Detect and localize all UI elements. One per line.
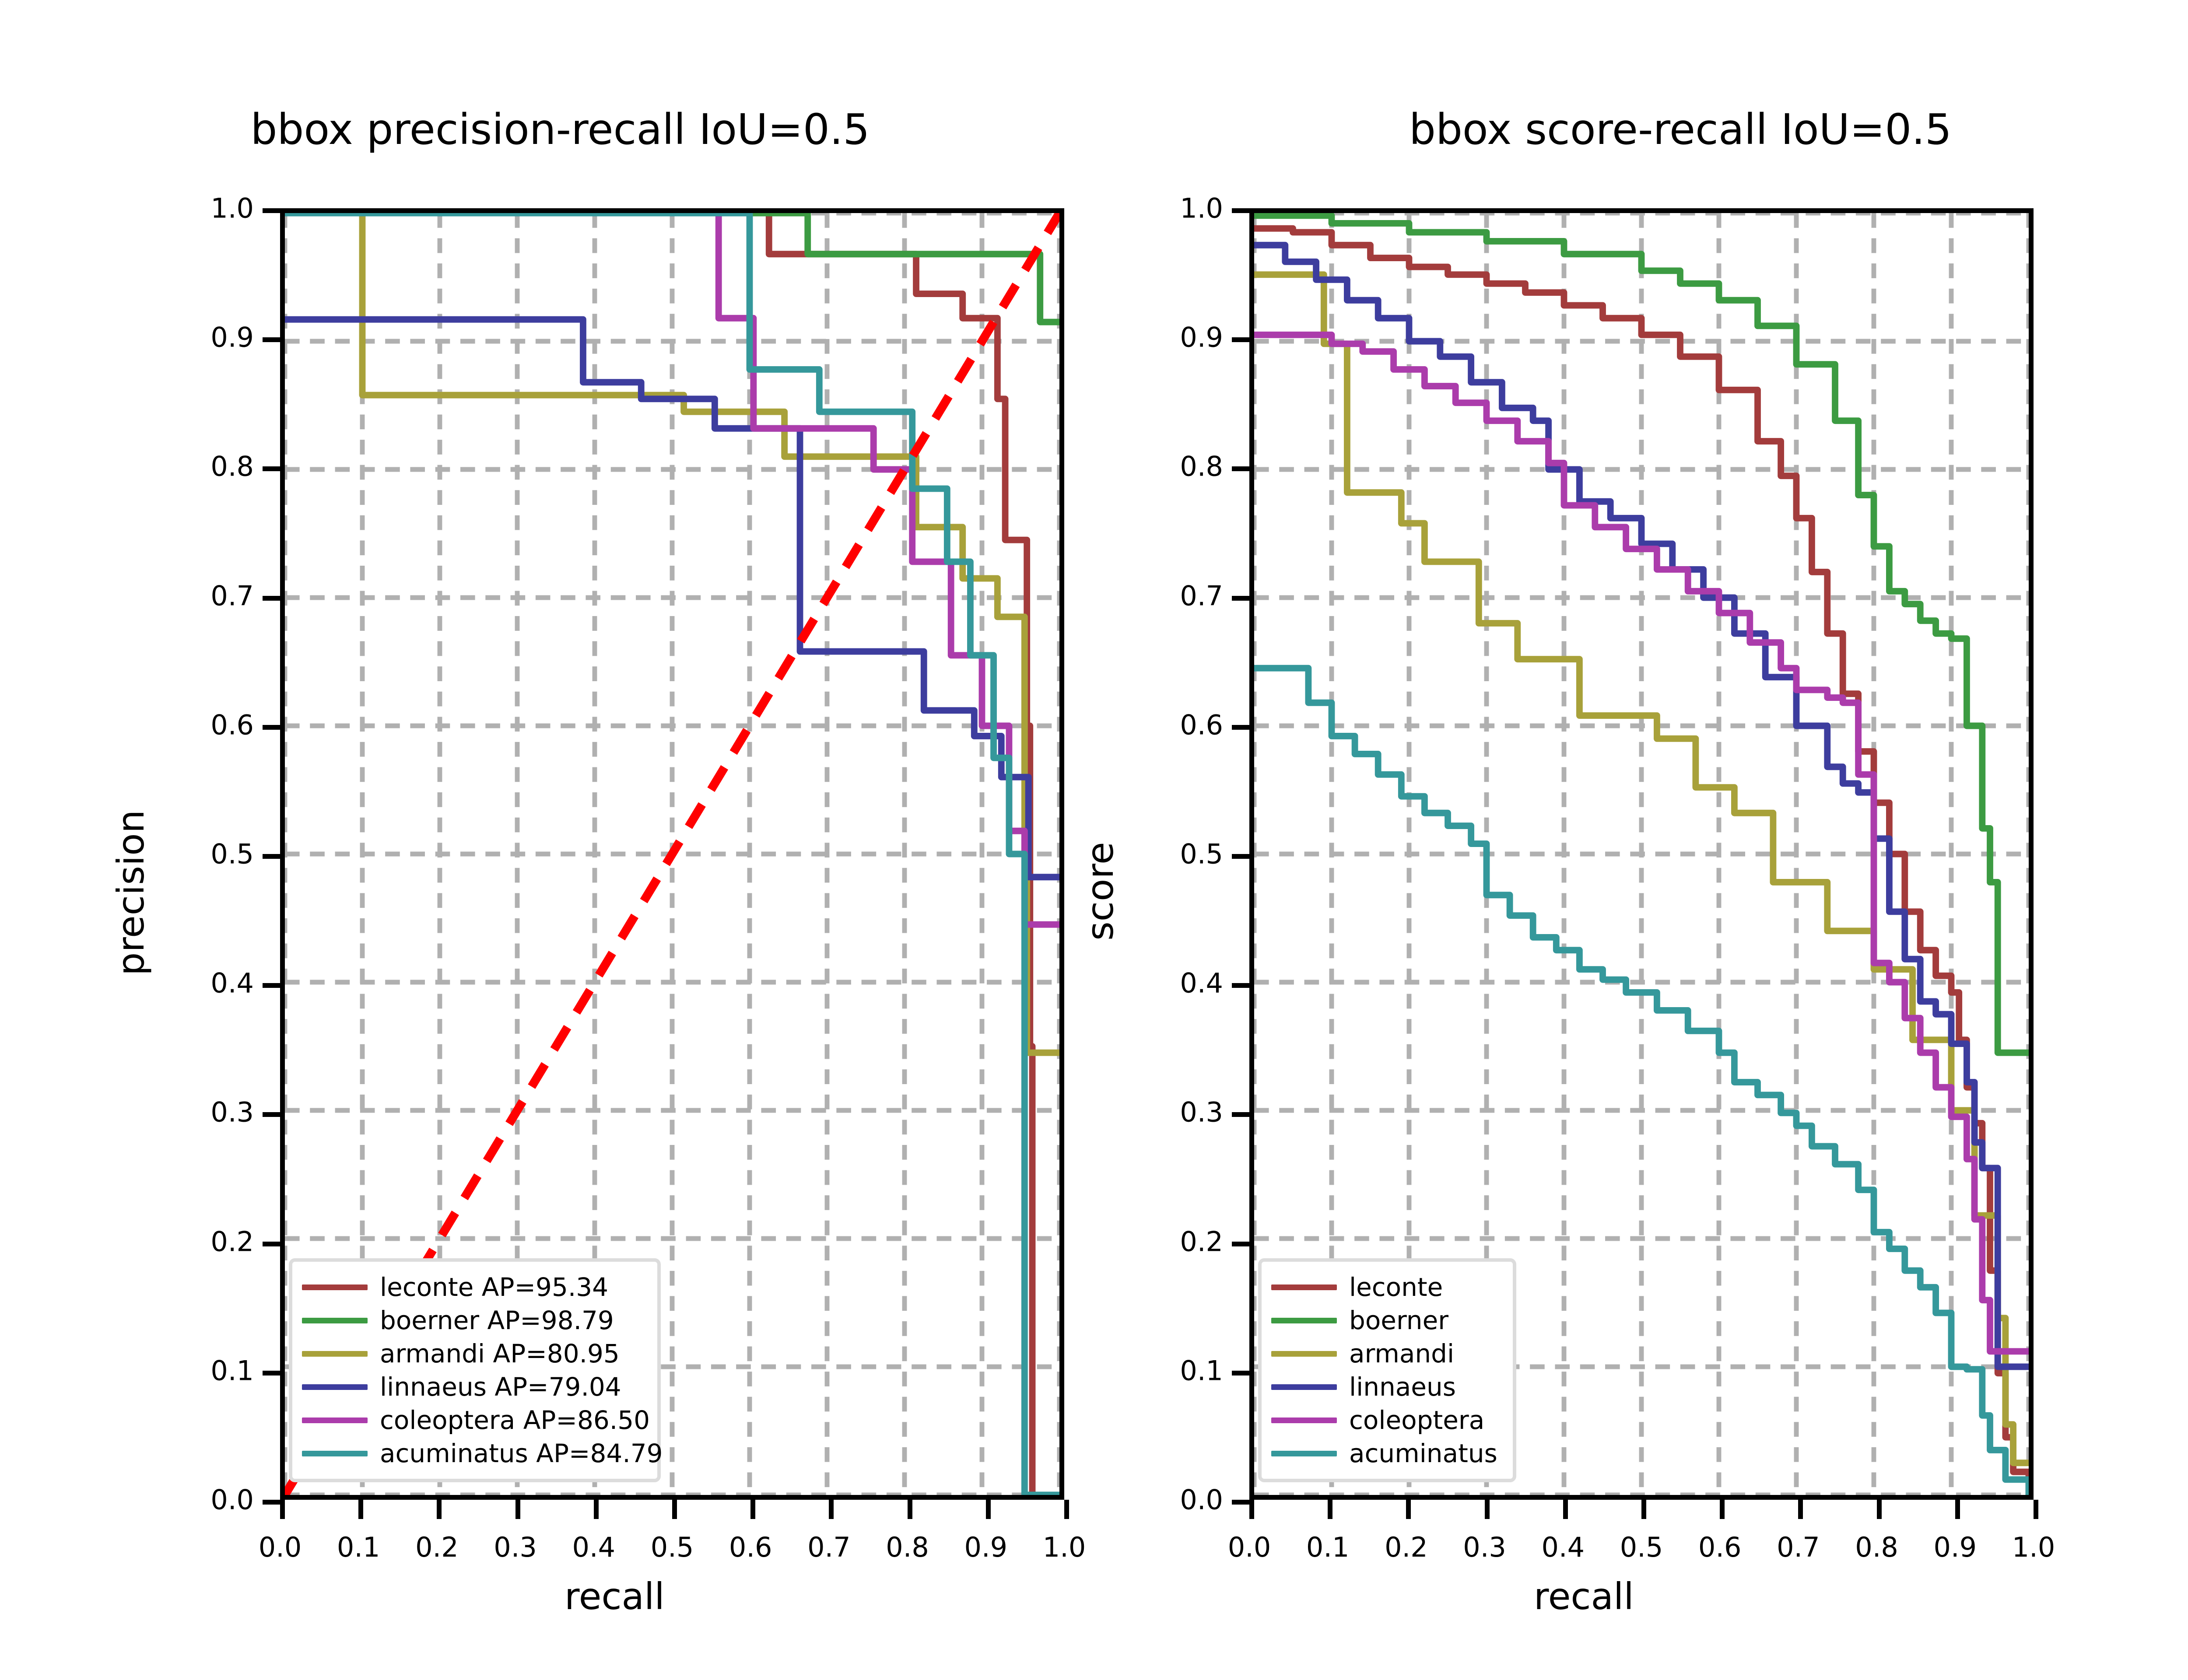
legend-label: leconte	[1349, 1274, 1443, 1300]
x-axis-label-left: recall	[565, 1575, 665, 1618]
y-tick-mark	[263, 983, 280, 988]
y-tick-mark	[263, 208, 280, 213]
x-tick-label: 1.0	[1012, 1531, 1117, 1563]
legend-color-swatch-armandi	[302, 1351, 368, 1357]
x-tick-mark	[986, 1500, 991, 1519]
y-tick-label: 0.9	[158, 322, 254, 353]
x-tick-mark	[1064, 1500, 1069, 1519]
legend-item[interactable]: leconte	[1271, 1270, 1501, 1304]
y-axis-label-right: score	[1079, 842, 1122, 941]
x-tick-mark	[1328, 1500, 1332, 1519]
y-tick-label: 1.0	[1127, 192, 1223, 224]
legend-label: boerner AP=98.79	[380, 1308, 614, 1333]
y-tick-mark	[263, 1112, 280, 1117]
x-tick-mark	[908, 1500, 912, 1519]
y-tick-label: 0.2	[158, 1225, 254, 1257]
y-tick-mark	[1232, 1112, 1249, 1117]
legend-color-swatch-coleoptera	[302, 1417, 368, 1423]
legend-color-swatch-leconte	[1271, 1284, 1337, 1290]
legend-color-swatch-linnaeus	[302, 1384, 368, 1390]
legend-label: acuminatus	[1349, 1441, 1497, 1466]
x-axis-label-right: recall	[1534, 1575, 1634, 1618]
y-tick-mark	[263, 337, 280, 342]
legend-item[interactable]: linnaeus	[1271, 1370, 1501, 1403]
legend-label: acuminatus AP=84.79	[380, 1441, 663, 1466]
legend-label: armandi	[1349, 1341, 1454, 1366]
y-tick-mark	[1232, 1242, 1249, 1246]
y-tick-mark	[1232, 1500, 1249, 1505]
x-tick-mark	[437, 1500, 442, 1519]
y-tick-label: 0.7	[158, 580, 254, 612]
legend-color-swatch-armandi	[1271, 1351, 1337, 1357]
y-tick-label: 0.5	[1127, 838, 1223, 870]
legend-color-swatch-acuminatus	[1271, 1451, 1337, 1456]
x-tick-mark	[829, 1500, 834, 1519]
x-tick-mark	[1563, 1500, 1568, 1519]
y-tick-label: 0.2	[1127, 1225, 1223, 1257]
legend-color-swatch-linnaeus	[1271, 1384, 1337, 1390]
y-tick-label: 1.0	[158, 192, 254, 224]
legend-label: boerner	[1349, 1308, 1448, 1333]
y-tick-label: 0.7	[1127, 580, 1223, 612]
y-tick-label: 0.0	[1127, 1484, 1223, 1516]
legend-item[interactable]: acuminatus	[1271, 1437, 1501, 1470]
y-tick-mark	[1232, 1371, 1249, 1375]
x-tick-label: 1.0	[1981, 1531, 2086, 1563]
legend-label: coleoptera	[1349, 1407, 1484, 1433]
legend-item[interactable]: boerner	[1271, 1304, 1501, 1337]
legend-item[interactable]: coleoptera AP=86.50	[302, 1403, 646, 1437]
x-tick-mark	[1249, 1500, 1254, 1519]
y-tick-mark	[1232, 466, 1249, 471]
y-tick-label: 0.3	[158, 1096, 254, 1128]
legend-color-swatch-leconte	[302, 1284, 368, 1290]
chart-title-right: bbox score-recall IoU=0.5	[1120, 105, 2188, 154]
legend-item[interactable]: armandi AP=80.95	[302, 1337, 646, 1370]
figure-canvas: bbox precision-recall IoU=0.5 0.00.10.20…	[0, 0, 2188, 1680]
x-tick-mark	[1877, 1500, 1882, 1519]
y-tick-label: 0.3	[1127, 1096, 1223, 1128]
legend-item[interactable]: acuminatus AP=84.79	[302, 1437, 646, 1470]
y-tick-mark	[263, 725, 280, 730]
legend-label: linnaeus	[1349, 1374, 1456, 1400]
x-tick-mark	[1406, 1500, 1411, 1519]
legend-left[interactable]: leconte AP=95.34boerner AP=98.79armandi …	[289, 1258, 661, 1482]
chart-title-left: bbox precision-recall IoU=0.5	[0, 105, 1120, 154]
y-tick-label: 0.6	[158, 709, 254, 741]
y-tick-label: 0.1	[158, 1354, 254, 1386]
panel-precision-recall: bbox precision-recall IoU=0.5 0.00.10.20…	[0, 0, 1120, 1680]
x-tick-mark	[1955, 1500, 1960, 1519]
panel-score-recall: bbox score-recall IoU=0.5 0.00.10.20.30.…	[1120, 0, 2188, 1680]
y-axis-label-left: precision	[109, 810, 152, 976]
legend-item[interactable]: linnaeus AP=79.04	[302, 1370, 646, 1403]
y-tick-label: 0.5	[158, 838, 254, 870]
y-tick-mark	[263, 1371, 280, 1375]
y-tick-label: 0.4	[1127, 967, 1223, 999]
y-tick-mark	[263, 854, 280, 859]
x-tick-mark	[1798, 1500, 1803, 1519]
legend-label: linnaeus AP=79.04	[380, 1374, 621, 1400]
y-tick-mark	[1232, 337, 1249, 342]
legend-right[interactable]: leconteboernerarmandilinnaeuscoleopteraa…	[1258, 1258, 1516, 1482]
y-tick-label: 0.8	[1127, 451, 1223, 483]
legend-label: armandi AP=80.95	[380, 1341, 620, 1366]
y-tick-label: 0.4	[158, 967, 254, 999]
legend-label: coleoptera AP=86.50	[380, 1407, 650, 1433]
y-tick-mark	[263, 1500, 280, 1505]
legend-color-swatch-acuminatus	[302, 1451, 368, 1456]
x-tick-mark	[358, 1500, 363, 1519]
x-tick-mark	[2034, 1500, 2038, 1519]
y-tick-mark	[1232, 596, 1249, 601]
y-tick-mark	[1232, 983, 1249, 988]
x-tick-mark	[672, 1500, 677, 1519]
legend-item[interactable]: armandi	[1271, 1337, 1501, 1370]
x-tick-mark	[594, 1500, 599, 1519]
y-tick-label: 0.9	[1127, 322, 1223, 353]
legend-item[interactable]: coleoptera	[1271, 1403, 1501, 1437]
y-tick-mark	[1232, 854, 1249, 859]
y-tick-mark	[263, 596, 280, 601]
y-tick-mark	[1232, 208, 1249, 213]
y-tick-label: 0.6	[1127, 709, 1223, 741]
x-tick-mark	[280, 1500, 285, 1519]
y-tick-label: 0.8	[158, 451, 254, 483]
y-tick-mark	[1232, 725, 1249, 730]
y-tick-mark	[263, 1242, 280, 1246]
y-tick-mark	[263, 466, 280, 471]
y-tick-label: 0.0	[158, 1484, 254, 1516]
legend-color-swatch-boerner	[302, 1318, 368, 1323]
x-tick-mark	[750, 1500, 755, 1519]
y-tick-label: 0.1	[1127, 1354, 1223, 1386]
x-tick-mark	[1641, 1500, 1646, 1519]
legend-label: leconte AP=95.34	[380, 1274, 608, 1300]
legend-color-swatch-boerner	[1271, 1318, 1337, 1323]
legend-item[interactable]: boerner AP=98.79	[302, 1304, 646, 1337]
x-tick-mark	[1720, 1500, 1725, 1519]
x-tick-mark	[515, 1500, 520, 1519]
legend-color-swatch-coleoptera	[1271, 1417, 1337, 1423]
legend-item[interactable]: leconte AP=95.34	[302, 1270, 646, 1304]
x-tick-mark	[1485, 1500, 1490, 1519]
